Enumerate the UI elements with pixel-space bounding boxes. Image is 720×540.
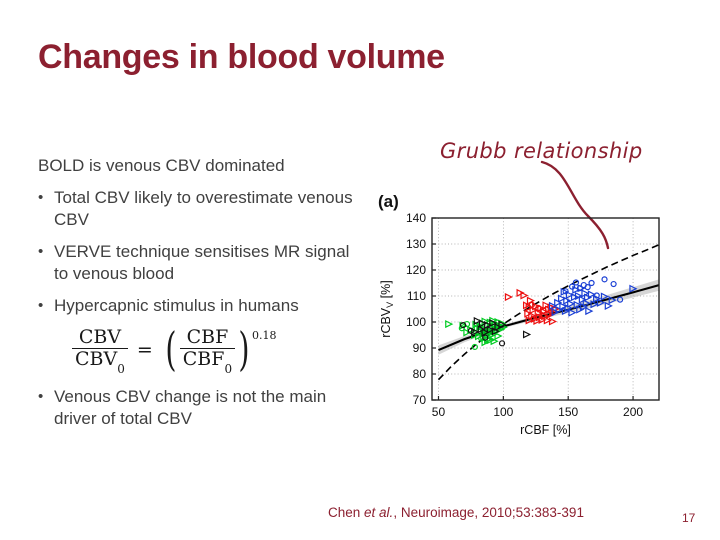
equation-exponent: 0.18	[252, 329, 277, 342]
equation-denominator-cbv-subscript: 0	[117, 362, 125, 376]
svg-text:rCBF [%]: rCBF [%]	[520, 423, 571, 437]
equation-denominator-cbf0: CBF0	[180, 349, 235, 372]
citation-et-al: et al.	[364, 505, 393, 520]
citation-prefix: Chen	[328, 505, 364, 520]
equation-denominator-cbf-text: CBF	[183, 348, 225, 370]
svg-text:70: 70	[413, 393, 427, 407]
equation-denominator-cbf-subscript: 0	[224, 362, 232, 376]
paren-open: (	[165, 333, 176, 366]
list-item-label: Hypercapnic stimulus in humans	[54, 295, 368, 317]
svg-text:rCBVV [%]: rCBVV [%]	[379, 280, 395, 337]
list-item-label: Total CBV likely to overestimate venous …	[54, 187, 368, 232]
grubb-annotation-label: Grubb relationship	[440, 139, 643, 163]
svg-text:130: 130	[406, 237, 426, 251]
equation-numerator-cbf: CBF	[184, 328, 232, 348]
list-item: • VERVE technique sensitises MR signal t…	[38, 241, 368, 286]
svg-text:100: 100	[493, 405, 513, 419]
svg-text:100: 100	[406, 315, 426, 329]
svg-text:150: 150	[558, 405, 578, 419]
svg-text:80: 80	[413, 367, 427, 381]
citation: Chen et al., Neuroimage, 2010;53:383-391	[328, 505, 584, 520]
lead-statement: BOLD is venous CBV dominated	[38, 155, 368, 177]
bullet-marker-icon: •	[38, 386, 54, 407]
slide-root: Changes in blood volume BOLD is venous C…	[0, 0, 720, 540]
bullet-marker-icon: •	[38, 241, 54, 262]
grubb-equation: CBV CBV0 = ( CBF CBF0 ) 0.18	[72, 326, 368, 374]
equation-denominator-cbv0: CBV0	[72, 349, 128, 372]
bullet-marker-icon: •	[38, 187, 54, 208]
equation-denominator-cbv-text: CBV	[75, 348, 117, 370]
list-item: • Hypercapnic stimulus in humans	[38, 295, 368, 317]
list-item: • Total CBV likely to overestimate venou…	[38, 187, 368, 232]
page-title: Changes in blood volume	[38, 38, 445, 77]
svg-text:120: 120	[406, 263, 426, 277]
list-item-label: Venous CBV change is not the main driver…	[54, 386, 368, 431]
citation-suffix: , Neuroimage, 2010;53:383-391	[393, 505, 584, 520]
svg-text:50: 50	[432, 405, 446, 419]
equation-numerator-cbv: CBV	[76, 328, 124, 348]
svg-text:110: 110	[407, 289, 426, 303]
figure-panel-a: (a) 70809010011012013014050100150200rCBF…	[376, 192, 676, 442]
equals-sign: =	[137, 339, 153, 361]
paren-close: )	[238, 333, 249, 366]
svg-text:200: 200	[623, 405, 643, 419]
equation-right-fraction: CBF CBF0	[180, 328, 235, 373]
slide-number: 17	[682, 511, 695, 525]
bullet-marker-icon: •	[38, 295, 54, 316]
svg-text:140: 140	[406, 211, 426, 225]
list-item: • Venous CBV change is not the main driv…	[38, 386, 368, 431]
body-content: BOLD is venous CBV dominated • Total CBV…	[38, 155, 368, 440]
equation-left-fraction: CBV CBV0	[72, 328, 128, 373]
scatter-chart: 70809010011012013014050100150200rCBF [%]…	[376, 192, 676, 442]
svg-text:90: 90	[413, 341, 427, 355]
list-item-label: VERVE technique sensitises MR signal to …	[54, 241, 368, 286]
